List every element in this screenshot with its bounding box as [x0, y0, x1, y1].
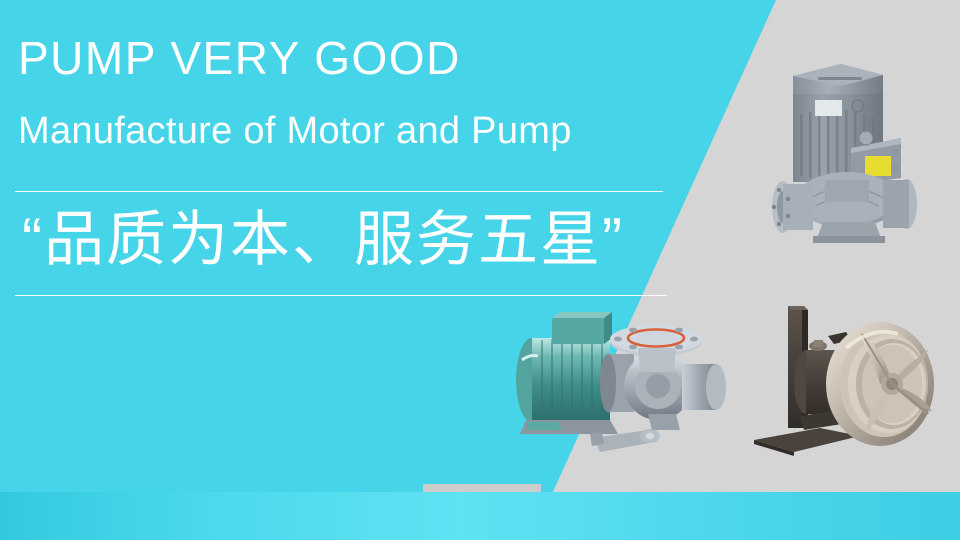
page-title: PUMP VERY GOOD	[18, 30, 461, 86]
product-image-submersible-mixer	[742, 292, 947, 472]
horizontal-motor-pump-icon	[498, 302, 738, 467]
product-image-horizontal-motor-pump	[498, 302, 738, 467]
bottom-color-band	[0, 492, 960, 540]
promo-banner: PUMP VERY GOOD Manufacture of Motor and …	[0, 0, 960, 540]
headline-block: PUMP VERY GOOD Manufacture of Motor and …	[0, 0, 720, 320]
submersible-mixer-icon	[742, 292, 947, 472]
page-subtitle: Manufacture of Motor and Pump	[18, 106, 572, 156]
slogan-text: “品质为本、服务五星”	[22, 203, 624, 277]
divider-bottom	[15, 295, 667, 296]
product-image-vertical-inline-pump	[755, 52, 945, 252]
divider-top	[15, 191, 663, 192]
vertical-inline-pump-icon	[755, 52, 945, 252]
